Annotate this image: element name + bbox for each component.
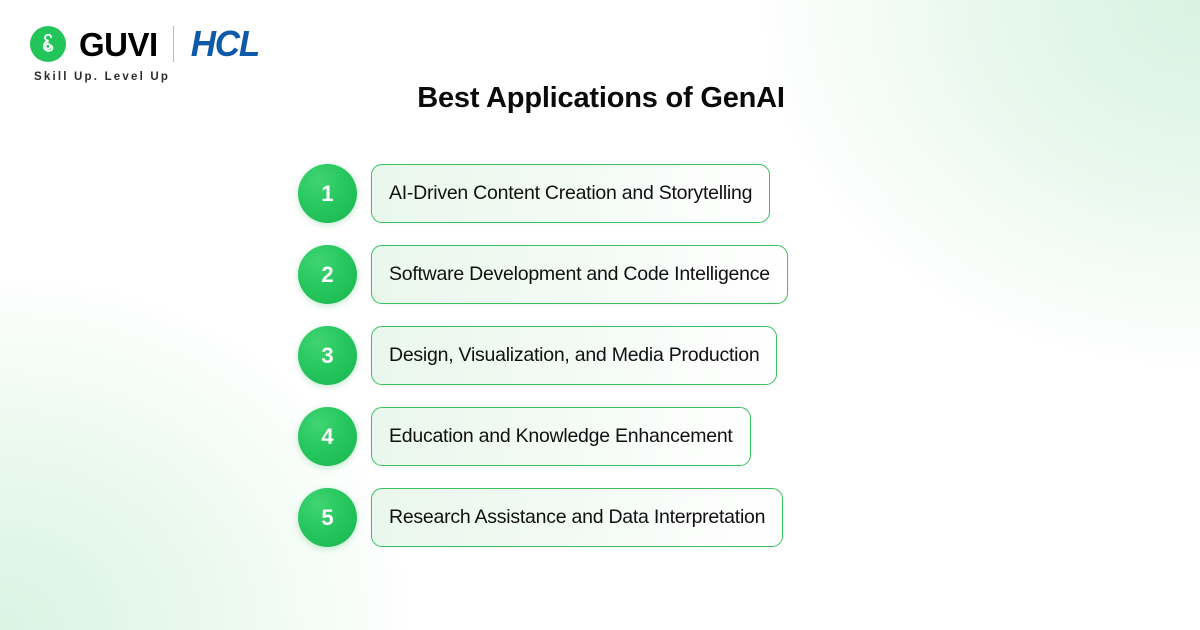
list-item: 4 Education and Knowledge Enhancement (298, 406, 788, 467)
list-item: 1 AI-Driven Content Creation and Storyte… (298, 163, 788, 224)
list-item-pill: AI-Driven Content Creation and Storytell… (371, 164, 770, 223)
guvi-g-logo-icon (30, 26, 66, 62)
list-item-pill: Research Assistance and Data Interpretat… (371, 488, 783, 547)
list-item-number-badge: 1 (298, 164, 357, 223)
list-item-label: AI-Driven Content Creation and Storytell… (389, 182, 752, 205)
list-item-number-badge: 4 (298, 407, 357, 466)
list-item-number-badge: 3 (298, 326, 357, 385)
list-item: 2 Software Development and Code Intellig… (298, 244, 788, 305)
list-item: 5 Research Assistance and Data Interpret… (298, 487, 788, 548)
list-item-pill: Software Development and Code Intelligen… (371, 245, 788, 304)
list-item-pill: Education and Knowledge Enhancement (371, 407, 751, 466)
list-item-number-badge: 5 (298, 488, 357, 547)
list-item-label: Education and Knowledge Enhancement (389, 425, 733, 448)
logo-row: GUVI HCL (30, 26, 259, 62)
list-item: 3 Design, Visualization, and Media Produ… (298, 325, 788, 386)
list-item-label: Research Assistance and Data Interpretat… (389, 506, 765, 529)
list-item-label: Design, Visualization, and Media Product… (389, 344, 759, 367)
list-item-pill: Design, Visualization, and Media Product… (371, 326, 777, 385)
applications-list: 1 AI-Driven Content Creation and Storyte… (298, 163, 788, 548)
slide-canvas: GUVI HCL Skill Up. Level Up Best Applica… (0, 0, 1200, 630)
hcl-wordmark: HCL (191, 26, 259, 62)
guvi-wordmark: GUVI (79, 28, 158, 61)
logo-divider (173, 26, 174, 62)
list-item-label: Software Development and Code Intelligen… (389, 263, 770, 286)
page-title: Best Applications of GenAI (0, 82, 1200, 115)
brand-logo-lockup: GUVI HCL Skill Up. Level Up (30, 26, 259, 83)
list-item-number-badge: 2 (298, 245, 357, 304)
